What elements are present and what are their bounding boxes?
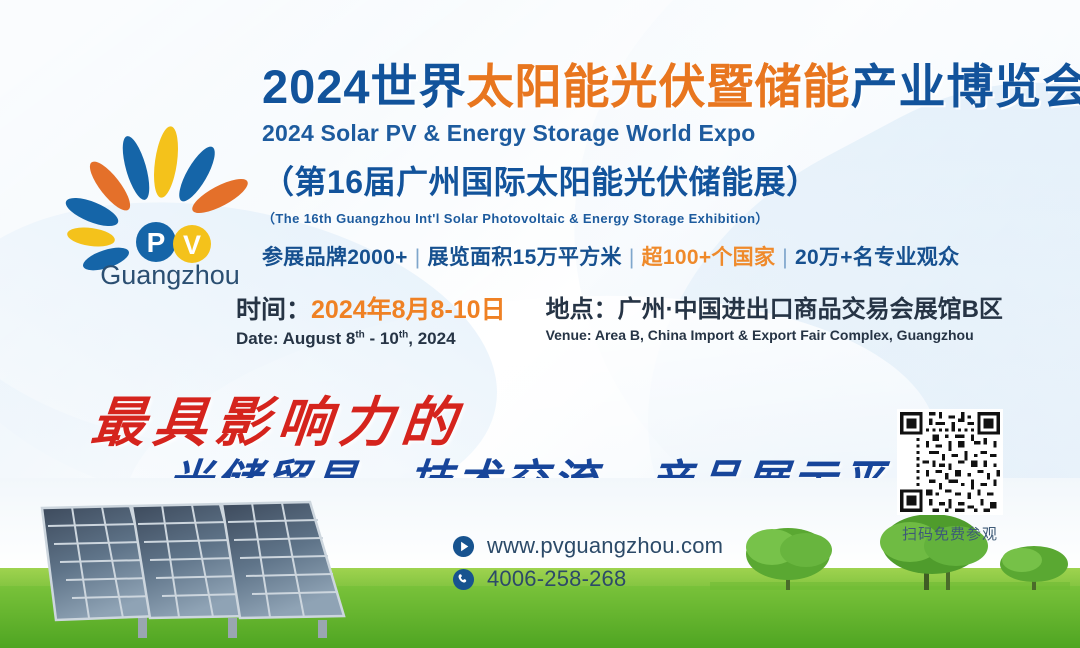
svg-text:V: V xyxy=(183,230,201,260)
qr-caption: 扫码免费参观 xyxy=(897,523,1003,544)
qr-code-icon[interactable] xyxy=(897,409,1003,515)
stat-countries: 超100+个国家 xyxy=(642,246,776,269)
main-title-segment-1: 2024世界 xyxy=(262,60,467,113)
stat-separator-2: | xyxy=(622,246,642,269)
date-venue-row: 时间：2024年8月8-10日 Date: August 8th - 10th,… xyxy=(236,296,1066,349)
venue-block: 地点：广州·中国进出口商品交易会展馆B区 Venue: Area B, Chin… xyxy=(546,296,1003,349)
expo-banner: P V Guangzhou 2024世界太阳能光伏暨储能产业博览会 2024 S… xyxy=(0,0,1080,648)
date-english-prefix: Date: August 8 xyxy=(236,329,355,348)
title-chinese-sub: （第16届广州国际太阳能光伏储能展） xyxy=(262,157,1062,203)
stat-separator-3: | xyxy=(775,246,795,269)
main-title: 2024世界太阳能光伏暨储能产业博览会 xyxy=(262,62,1062,113)
contact-block: www.pvguangzhou.com 4006-258-268 xyxy=(452,533,723,592)
stats-row: 参展品牌2000+|展览面积15万平方米|超100+个国家|20万+名专业观众 xyxy=(262,241,1062,271)
phone-text: 4006-258-268 xyxy=(487,566,626,592)
date-label-cn: 时间： xyxy=(236,296,311,324)
stat-area: 展览面积15万平方米 xyxy=(427,246,621,269)
venue-english: Venue: Area B, China Import & Export Fai… xyxy=(546,327,1003,343)
qr-block: 扫码免费参观 xyxy=(897,409,1003,544)
venue-chinese: 地点：广州·中国进出口商品交易会展馆B区 xyxy=(546,296,1003,324)
svg-text:P: P xyxy=(147,227,166,258)
date-block: 时间：2024年8月8-10日 Date: August 8th - 10th,… xyxy=(236,296,506,349)
logo-pv-letters: P V xyxy=(136,222,211,263)
stat-visitors: 20万+名专业观众 xyxy=(795,246,959,269)
stat-brands: 参展品牌2000+ xyxy=(262,246,408,269)
date-chinese: 时间：2024年8月8-10日 xyxy=(236,296,506,326)
stat-separator-1: | xyxy=(408,246,428,269)
phone-row[interactable]: 4006-258-268 xyxy=(452,566,723,592)
solar-panel-array-icon xyxy=(10,488,410,638)
play-circle-icon xyxy=(452,535,475,558)
date-english-sup1: th xyxy=(355,329,364,340)
main-title-segment-2: 太阳能光伏暨储能 xyxy=(467,60,851,113)
date-english-sup2: th xyxy=(399,329,408,340)
website-row[interactable]: www.pvguangzhou.com xyxy=(452,533,723,559)
date-english-mid: - 10 xyxy=(365,329,399,348)
tree-icon xyxy=(710,502,1070,612)
venue-label-cn: 地点： xyxy=(546,296,618,323)
website-text: www.pvguangzhou.com xyxy=(487,533,723,559)
title-block: 2024世界太阳能光伏暨储能产业博览会 2024 Solar PV & Ener… xyxy=(262,62,1062,271)
main-title-segment-3: 产业博览会 xyxy=(851,60,1080,113)
title-english: 2024 Solar PV & Energy Storage World Exp… xyxy=(262,120,1062,147)
date-english-suffix: , 2024 xyxy=(408,329,455,348)
pv-guangzhou-logo: P V Guangzhou xyxy=(58,104,273,294)
date-value-cn: 2024年8月8-10日 xyxy=(311,296,506,324)
phone-circle-icon xyxy=(452,568,475,591)
date-english: Date: August 8th - 10th, 2024 xyxy=(236,329,506,349)
venue-value-cn: 广州·中国进出口商品交易会展馆B区 xyxy=(618,296,1003,323)
logo-wordmark: Guangzhou xyxy=(100,260,240,290)
title-english-sub: （The 16th Guangzhou Int'l Solar Photovol… xyxy=(262,208,1062,227)
